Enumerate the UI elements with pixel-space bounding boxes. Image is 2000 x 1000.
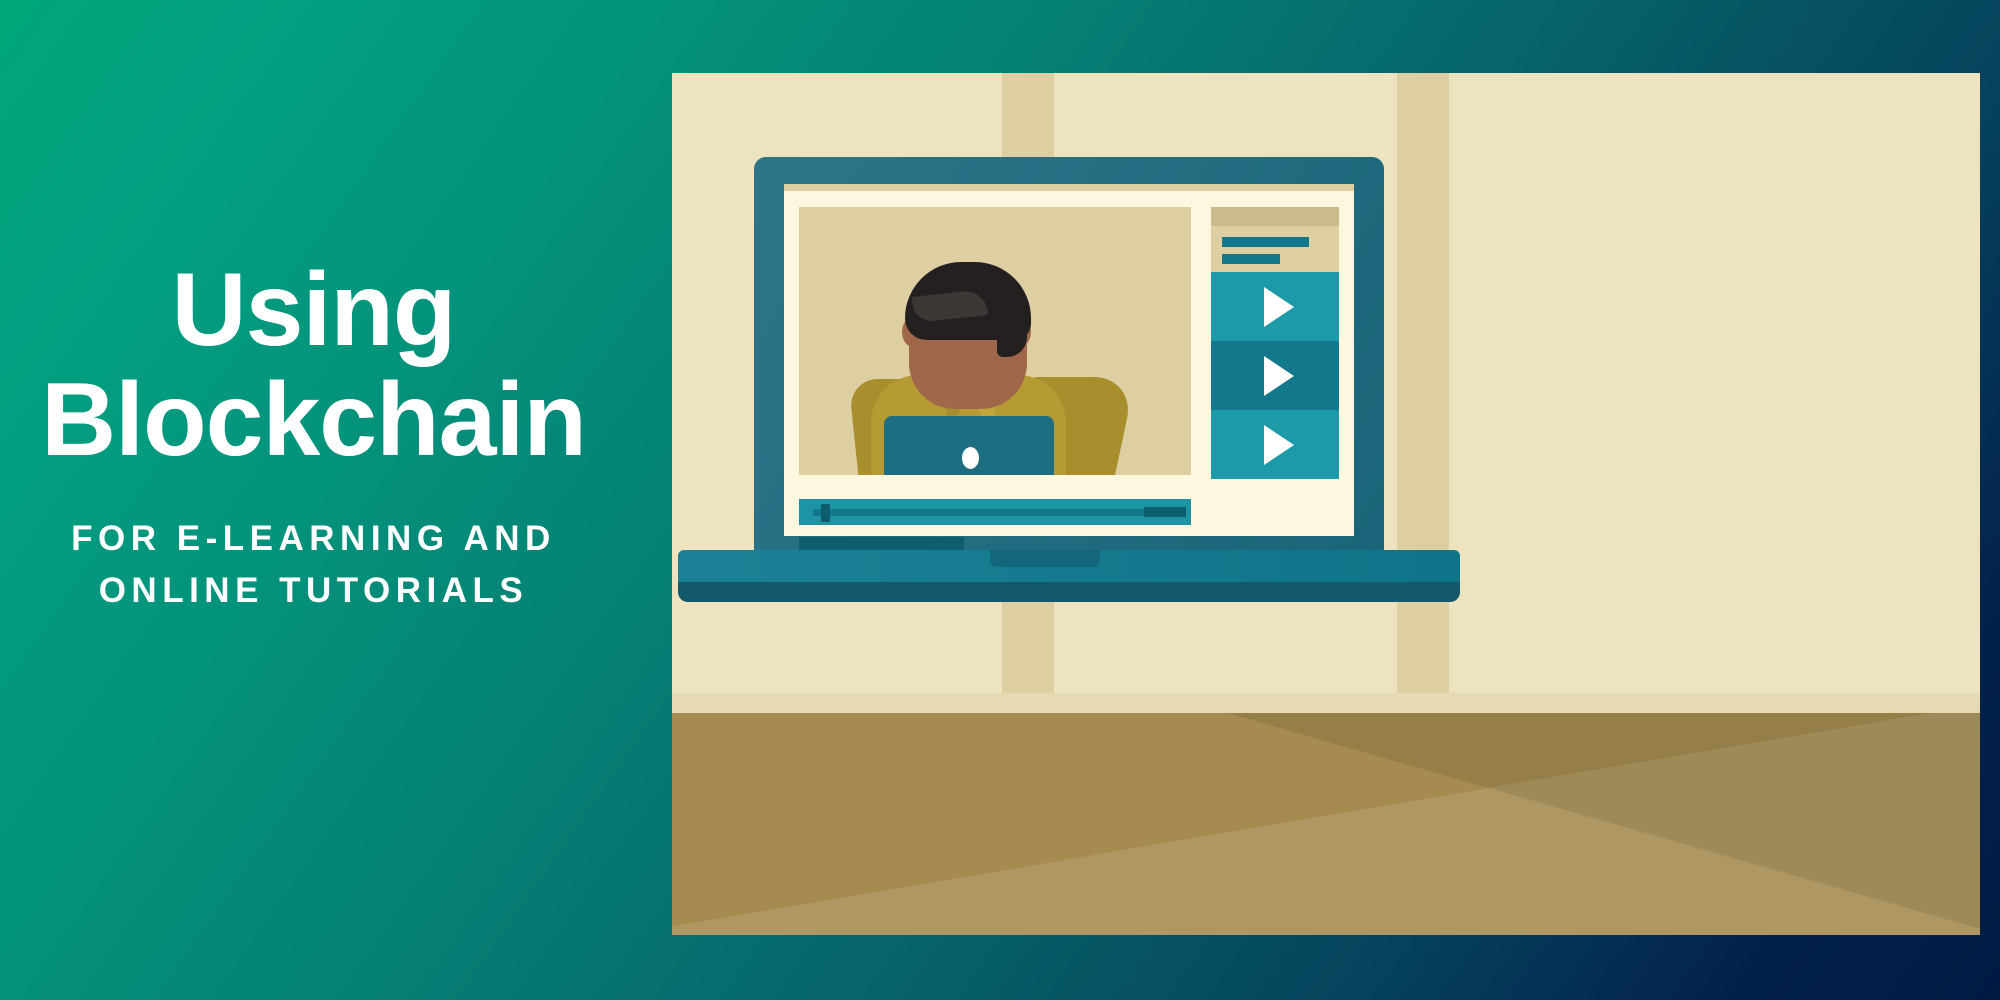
playlist-header-cap [1211,207,1339,226]
playlist-item-2[interactable] [1211,341,1339,410]
play-icon[interactable] [1264,287,1294,327]
video-progress-bar[interactable] [813,509,1173,516]
person-hair-side [997,299,1027,357]
playlist-item-1[interactable] [1211,272,1339,341]
illustration-panel [672,73,1980,935]
video-playlist-sidebar [1211,207,1339,590]
video-progress-handle[interactable] [821,504,830,522]
page-title-line-1: Using [0,255,627,365]
play-icon[interactable] [1264,356,1294,396]
play-icon[interactable] [1264,425,1294,465]
laptop-screen [799,207,1339,525]
playlist-item-3[interactable] [1211,410,1339,479]
video-title-placeholder [799,537,964,550]
page-title-line-2: Blockchain [0,365,627,475]
person-laptop-logo-icon [962,447,979,469]
page-subtitle: For E-Learning and Online Tutorials [0,513,627,617]
video-duration-indicator [1144,507,1186,517]
playlist-header-bar-1 [1222,237,1309,247]
video-player-viewport[interactable] [799,207,1191,475]
page-subtitle-line-2: Online Tutorials [0,565,627,617]
page-subtitle-line-1: For E-Learning and [0,513,627,565]
laptop-illustration [672,73,1980,935]
laptop-lid [754,157,1384,553]
playlist-header-bar-2 [1222,254,1280,264]
headline-block: Using Blockchain For E-Learning and Onli… [0,255,672,617]
laptop-base-notch [990,550,1100,567]
laptop-base-front [678,582,1460,602]
promo-banner: Using Blockchain For E-Learning and Onli… [0,0,2000,1000]
playlist-header [1211,207,1339,272]
